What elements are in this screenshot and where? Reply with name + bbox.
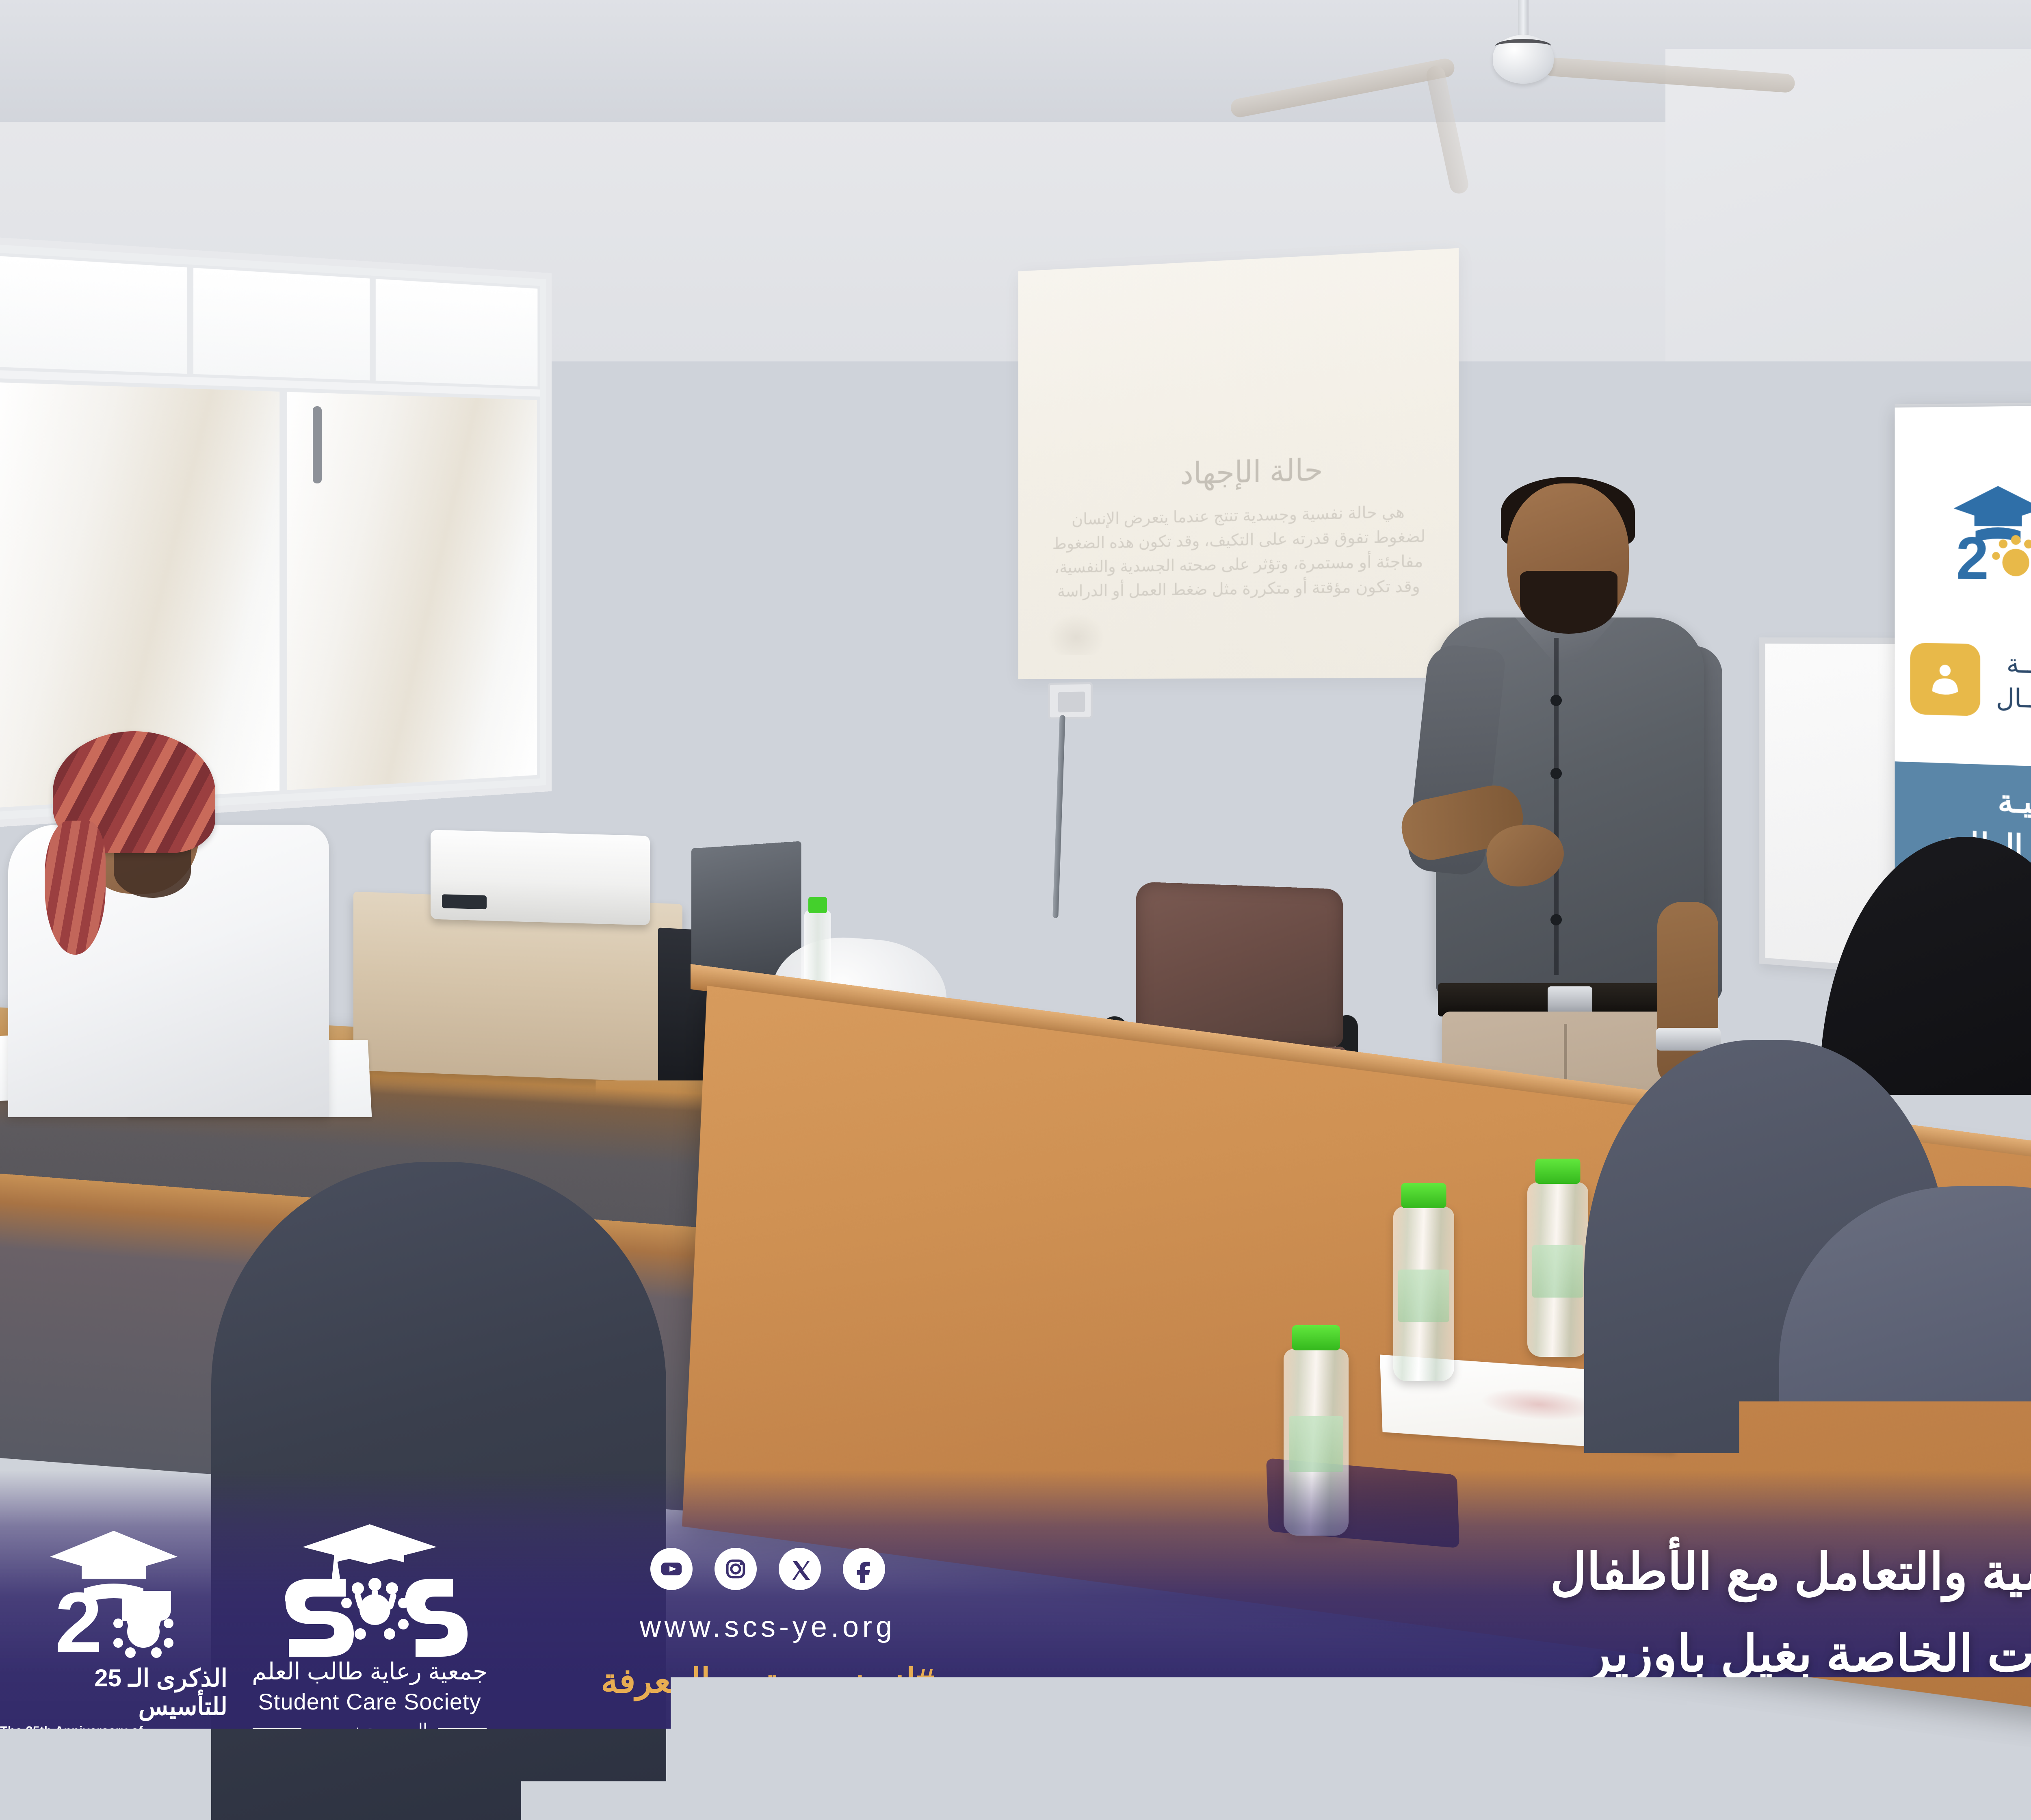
poster-headline: ورشة توعوية حول العناية النفسية والتعامل… [1024,1519,2031,1695]
scs-mark-icon [274,1522,465,1656]
scs-english-name: Student Care Society [258,1688,481,1715]
contact-block: www.scs-ye.org #لنصنع_مجتمع_المعرفة [512,1519,1024,1701]
website-url[interactable]: www.scs-ye.org [512,1610,1024,1644]
banner-sector-line1: قطـــاع الحمايـــة [1996,646,2031,685]
campaign-hashtag: #لنصنع_مجتمع_المعرفة [512,1661,1024,1701]
banner-sector-block: قطـــاع الحمايـــة حمايـــة الأطفـــال [1910,619,2031,749]
scs-logo: جمعية رعاية طالب العلم Student Care Soci… [227,1519,512,1739]
wall-socket [1048,682,1093,719]
seated-participant [8,687,341,1113]
banner-anniversary-logo: 2 [1953,483,2031,585]
banner-logo-group: 2 [1895,466,2031,604]
poster-canvas: حالة الإجهاد هي حالة نفسية وجسدية تنتج ع… [0,0,2031,1820]
scs-arabic-name: جمعية رعاية طالب العلم [252,1657,487,1685]
facebook-icon[interactable] [843,1548,885,1590]
anniversary-mark-icon: 2 [47,1527,181,1662]
anniversary-logo: 2 [0,1519,227,1752]
slide-body-text: هي حالة نفسية وجسدية تنتج عندما يتعرض ال… [1049,499,1429,603]
water-bottle [1527,1182,1588,1357]
youtube-icon[interactable] [650,1548,693,1590]
projection-screen: حالة الإجهاد هي حالة نفسية وجسدية تنتج ع… [1018,248,1459,679]
projector [431,830,650,925]
anniversary-arabic-label: الذكرى الـ 25 للتأسيس [0,1664,227,1721]
svg-text:2: 2 [55,1575,102,1670]
instagram-icon[interactable] [715,1548,757,1590]
banner-sector-line2: حمايـــة الأطفـــال [1996,680,2031,721]
child-protection-icon [1910,643,1981,716]
social-links [512,1548,1024,1590]
headline-line-2: بمدرسة المزيني لذوي الاحتياجات الخاصة بغ… [1048,1613,2031,1695]
svg-text:2: 2 [1956,525,1989,592]
scs-location-text: اليمن ـ حضرموت [312,1720,427,1739]
slide-title: حالة الإجهاد [1100,450,1408,493]
anniversary-english-label: The 25th Anniversary of Establishment [0,1724,227,1752]
window-handle [313,406,322,483]
water-bottle [1393,1207,1454,1381]
footer-overlay: 2 [0,1471,2031,1820]
ceiling-fan-icon [1259,0,1787,102]
scs-location-line: اليمن ـ حضرموت [253,1720,487,1739]
headline-line-1: ورشة توعوية حول العناية النفسية والتعامل… [1048,1532,2031,1613]
slide-watermark-logo [1045,611,1107,655]
x-twitter-icon[interactable] [779,1548,821,1590]
